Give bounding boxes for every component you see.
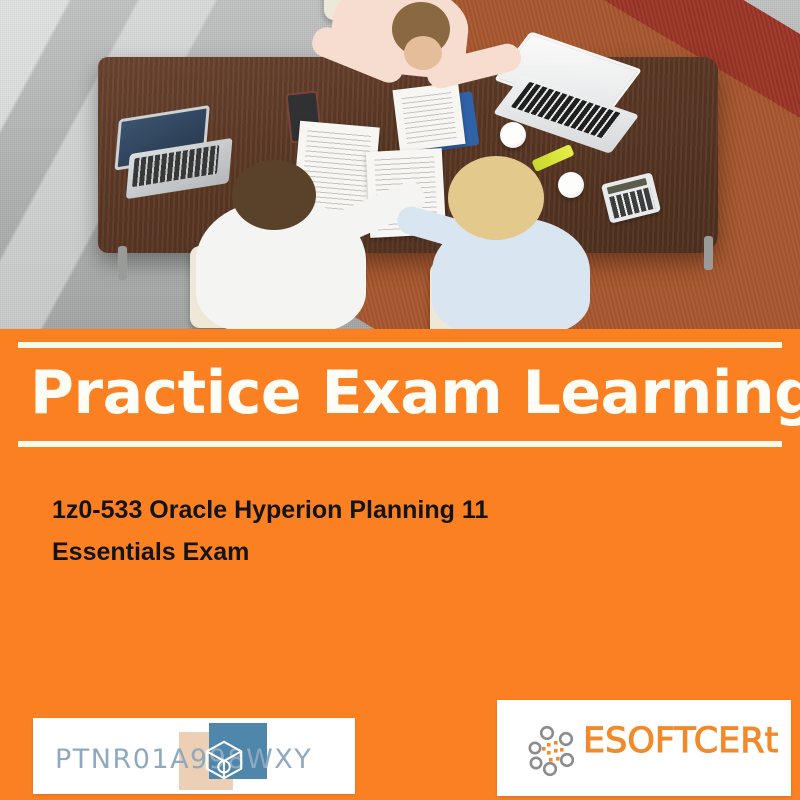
head [448, 156, 544, 240]
brand-name-text: ESOFTCERt [583, 721, 778, 761]
exam-subtitle: 1z0-533 Oracle Hyperion Planning 11 Esse… [52, 489, 612, 573]
coffee-cup [558, 172, 584, 198]
table-leg [704, 236, 713, 270]
partner-logo-card: PTNR01A998WXY [33, 718, 355, 794]
face [404, 36, 442, 70]
brand-logo-card: ESOFTCERt [497, 700, 791, 796]
cube-icon [201, 737, 247, 783]
coffee-cup [500, 122, 526, 148]
divider-bottom [18, 441, 782, 447]
table-leg [118, 246, 127, 280]
exam-subtitle-line-1: 1z0-533 Oracle Hyperion Planning 11 [52, 489, 612, 531]
head [232, 160, 316, 230]
page-title: Practice Exam Learning [30, 353, 774, 433]
exam-subtitle-line-2: Essentials Exam [52, 531, 612, 573]
poster: Practice Exam Learning 1z0-533 Oracle Hy… [0, 0, 800, 800]
divider-top [18, 342, 782, 348]
hero-photo [0, 0, 800, 329]
partner-code-text: PTNR01A998WXY [55, 744, 312, 775]
paper-document [392, 82, 465, 152]
